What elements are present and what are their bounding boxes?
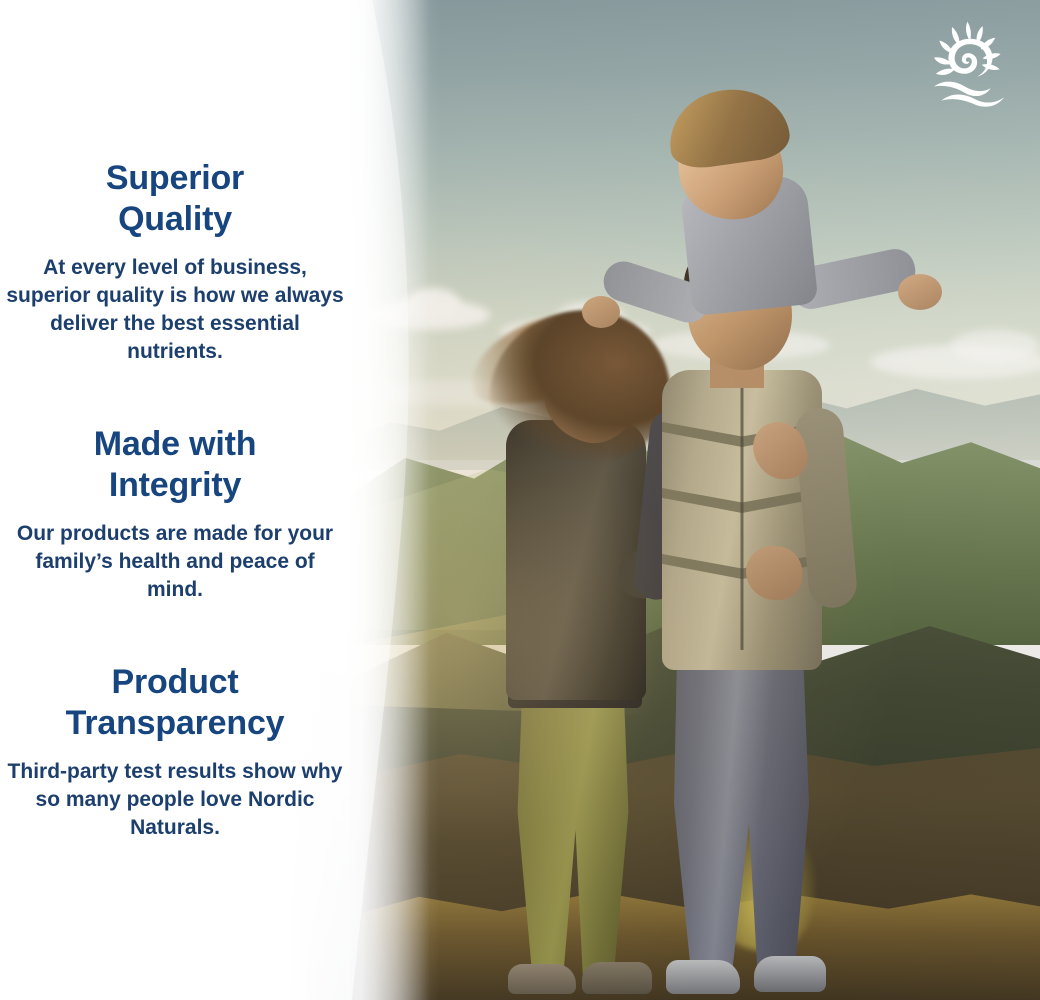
- sun-wave-logo-icon: [924, 18, 1016, 108]
- vest-zipper: [741, 380, 744, 650]
- brand-values-banner: Superior Quality At every level of busin…: [0, 0, 1040, 1000]
- man-shoe: [754, 956, 826, 992]
- value-body: Our products are made for your family’s …: [0, 520, 350, 604]
- heading-line: Integrity: [109, 466, 241, 504]
- value-body: Third-party test results show why so man…: [0, 758, 350, 842]
- value-block-made-with-integrity: Made with Integrity Our products are mad…: [0, 424, 350, 604]
- value-heading: Superior Quality: [0, 158, 350, 240]
- man-shoe: [666, 960, 740, 994]
- family-lifestyle-photo: [350, 0, 1040, 1000]
- value-heading: Made with Integrity: [0, 424, 350, 506]
- child-hand: [898, 274, 942, 310]
- child-hand: [582, 296, 620, 328]
- value-propositions: Superior Quality At every level of busin…: [0, 0, 410, 1000]
- man-hand: [746, 546, 802, 600]
- heading-line: Quality: [118, 200, 232, 238]
- cloud: [950, 330, 1040, 362]
- man-chevron-vest: [662, 370, 822, 670]
- heading-line: Superior: [106, 159, 244, 197]
- value-block-product-transparency: Product Transparency Third-party test re…: [0, 662, 350, 842]
- heading-line: Transparency: [66, 704, 285, 742]
- woman-shoe: [582, 962, 652, 994]
- value-block-superior-quality: Superior Quality At every level of busin…: [0, 158, 350, 366]
- value-heading: Product Transparency: [0, 662, 350, 744]
- woman-shoe: [508, 964, 576, 994]
- heading-line: Made with: [94, 425, 257, 463]
- value-body: At every level of business, superior qua…: [0, 254, 350, 366]
- heading-line: Product: [111, 663, 238, 701]
